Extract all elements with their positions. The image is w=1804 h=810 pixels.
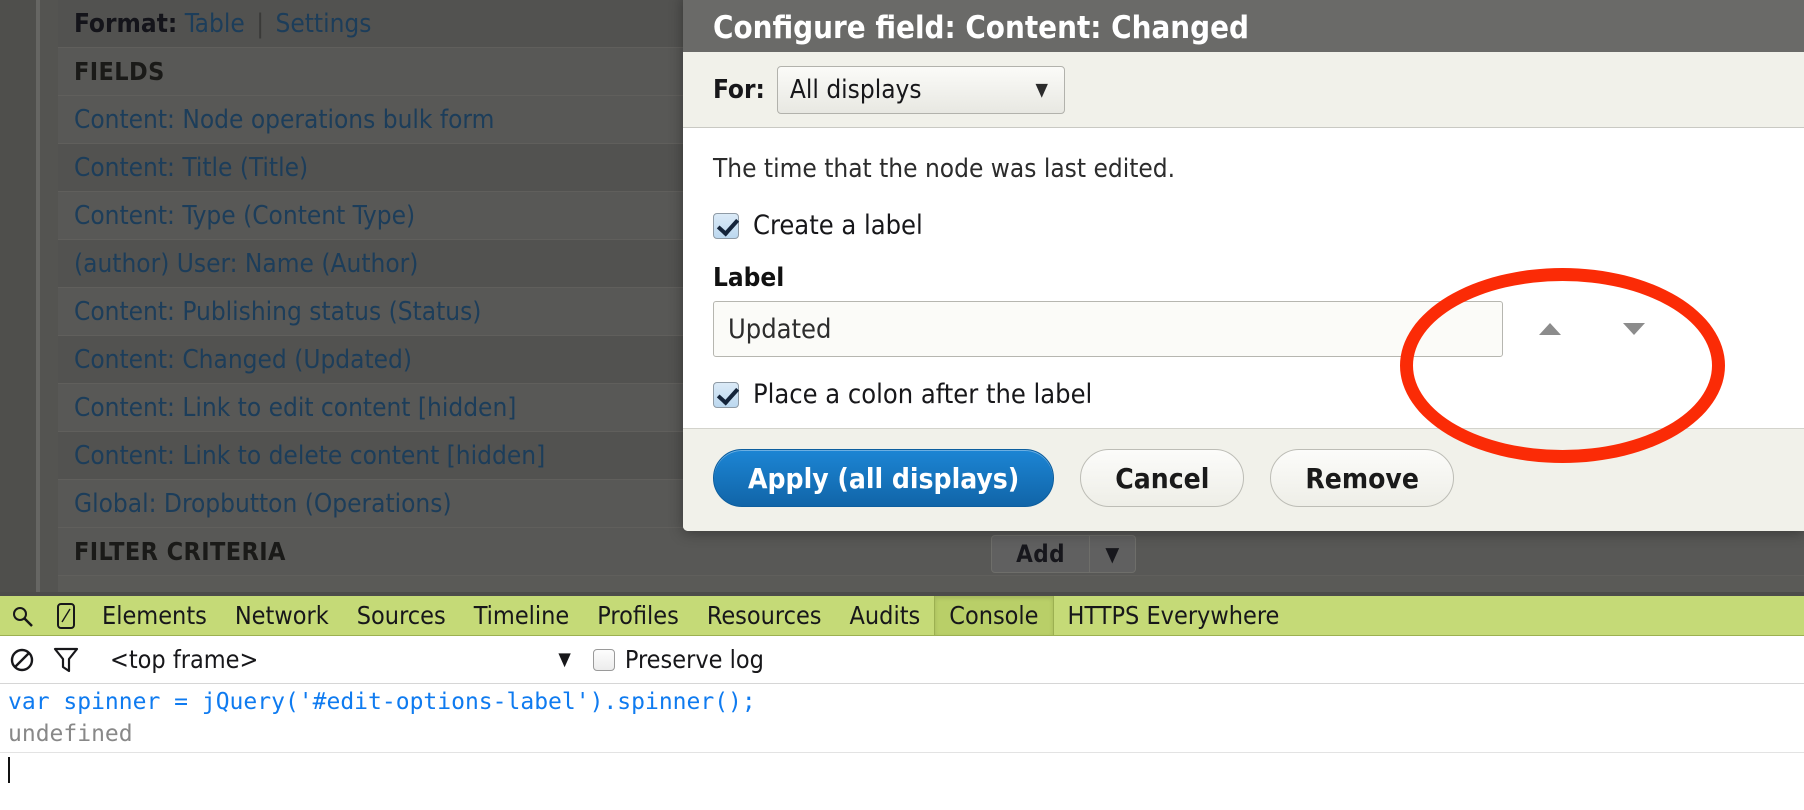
colon-checkbox-label[interactable]: Place a colon after the label [753,379,1092,410]
preserve-log-checkbox[interactable] [593,649,615,671]
device-toggle-icon[interactable] [44,596,88,635]
preserve-log-label[interactable]: Preserve log [625,645,764,674]
field-link[interactable]: (author) User: Name (Author) [74,249,418,279]
create-label-checkbox[interactable] [713,213,739,239]
create-label-checkbox-row[interactable]: Create a label [713,210,1774,241]
cancel-button[interactable]: Cancel [1080,449,1244,507]
field-link[interactable]: Content: Link to edit content [hidden] [74,393,516,423]
field-link[interactable]: Content: Type (Content Type) [74,201,415,231]
console-input-line: var spinner = jQuery('#edit-options-labe… [0,686,1804,718]
spinner-down-icon[interactable] [1617,312,1651,346]
chevron-down-icon[interactable]: ▼ [558,649,570,670]
add-button-label[interactable]: Add [992,536,1089,572]
filter-funnel-icon[interactable] [44,646,88,674]
tab-audits[interactable]: Audits [836,596,935,635]
filter-criteria-label: FILTER CRITERIA [74,537,286,566]
format-label: Format: [74,9,177,39]
devtools-console-filterbar: <top frame> ▼ Preserve log [0,636,1804,684]
inspect-cursor-icon[interactable] [0,596,44,635]
spinner-buttons[interactable] [1533,312,1651,346]
dialog-title: Configure field: Content: Changed [713,8,1774,48]
display-select[interactable]: All displays ▼ [777,66,1065,114]
tab-network[interactable]: Network [221,596,343,635]
display-select-value: All displays [790,75,922,105]
text-caret [8,757,10,783]
page-gutter-inner [40,0,58,598]
spinner-up-icon[interactable] [1533,312,1567,346]
label-input-row [713,301,1774,357]
configure-field-dialog: Configure field: Content: Changed For: A… [683,0,1804,531]
tab-profiles[interactable]: Profiles [583,596,693,635]
remove-button[interactable]: Remove [1270,449,1454,507]
chevron-down-icon: ▼ [1035,79,1047,100]
colon-checkbox-row[interactable]: Place a colon after the label [713,379,1774,410]
colon-checkbox[interactable] [713,382,739,408]
field-link[interactable]: Content: Title (Title) [74,153,308,183]
for-label: For: [713,75,765,105]
screen-root: Format: Table | Settings FIELDS Content:… [0,0,1804,810]
label-field-label: Label [713,263,1774,293]
tab-https-everywhere[interactable]: HTTPS Everywhere [1054,596,1294,635]
clear-console-icon[interactable] [0,647,44,673]
tab-timeline[interactable]: Timeline [460,596,584,635]
field-link[interactable]: Content: Changed (Updated) [74,345,412,375]
dialog-titlebar: Configure field: Content: Changed [683,0,1804,52]
field-link[interactable]: Global: Dropbutton (Operations) [74,489,452,519]
tab-elements[interactable]: Elements [88,596,221,635]
field-description: The time that the node was last edited. [713,154,1774,184]
page-gutter-outer [0,0,36,598]
apply-button[interactable]: Apply (all displays) [713,449,1054,507]
tab-resources[interactable]: Resources [693,596,836,635]
format-value-link[interactable]: Table [185,9,245,39]
frame-selector[interactable]: <top frame> [110,645,258,674]
preserve-log-row[interactable]: Preserve log [593,645,764,674]
label-input[interactable] [713,301,1503,357]
console-result-line: undefined [0,718,1804,753]
add-dropbutton[interactable]: Add ▼ [991,535,1136,573]
filter-criteria-section-header: FILTER CRITERIA Add ▼ [58,528,1804,576]
tab-console[interactable]: Console [934,596,1053,635]
dialog-display-selector-bar: For: All displays ▼ [683,52,1804,128]
tab-sources[interactable]: Sources [343,596,460,635]
field-link[interactable]: Content: Link to delete content [hidden] [74,441,545,471]
dialog-body: The time that the node was last edited. … [683,128,1804,428]
field-link[interactable]: Content: Node operations bulk form [74,105,494,135]
format-settings-link[interactable]: Settings [276,9,372,39]
devtools-panel: Elements Network Sources Timeline Profil… [0,592,1804,810]
field-link[interactable]: Content: Publishing status (Status) [74,297,481,327]
console-output[interactable]: var spinner = jQuery('#edit-options-labe… [0,684,1804,787]
console-prompt[interactable] [0,753,1804,787]
devtools-tabbar: Elements Network Sources Timeline Profil… [0,596,1804,636]
dialog-footer: Apply (all displays) Cancel Remove [683,428,1804,531]
create-label-checkbox-label[interactable]: Create a label [753,210,923,241]
format-separator: | [252,9,268,39]
chevron-down-icon[interactable]: ▼ [1089,536,1135,572]
